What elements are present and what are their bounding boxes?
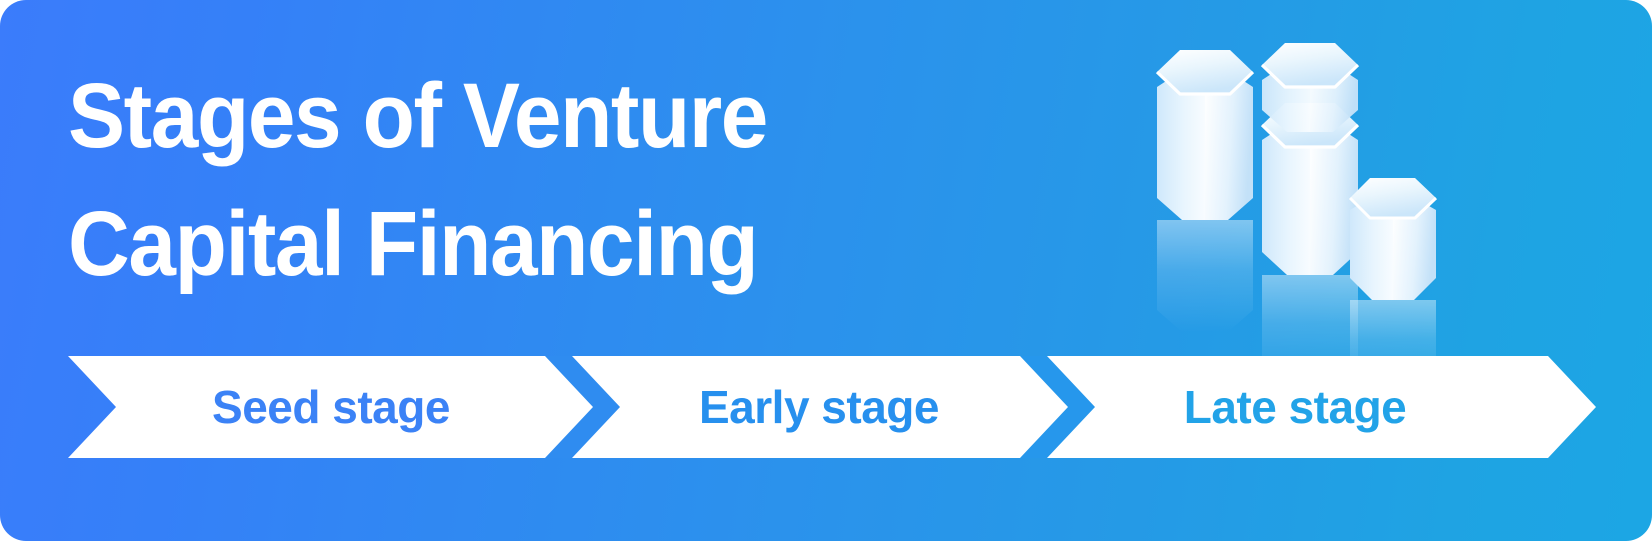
hexagonal-blocks-illustration bbox=[1110, 20, 1470, 370]
title-line-1: Stages of Venture bbox=[68, 52, 961, 180]
venture-capital-stages-banner: Stages of Venture Capital Financing Seed… bbox=[0, 0, 1652, 541]
block-short bbox=[1350, 178, 1436, 300]
stage-label-seed[interactable]: Seed stage bbox=[122, 356, 540, 458]
title-line-2: Capital Financing bbox=[68, 180, 961, 308]
stage-label-late[interactable]: Late stage bbox=[1086, 356, 1504, 458]
block-tall bbox=[1157, 50, 1253, 220]
block-medium bbox=[1262, 43, 1358, 275]
page-title: Stages of Venture Capital Financing bbox=[68, 52, 1028, 308]
stage-label-early[interactable]: Early stage bbox=[610, 356, 1028, 458]
